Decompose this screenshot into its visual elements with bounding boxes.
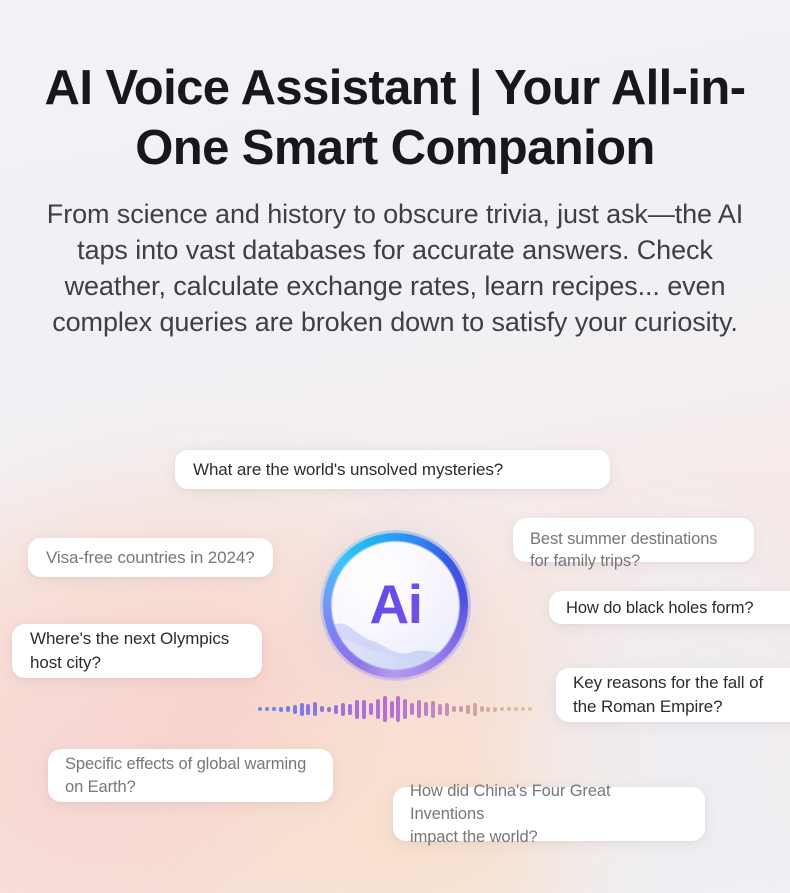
header: AI Voice Assistant | Your All-in-One Sma… <box>0 58 790 340</box>
waveform-bar <box>362 700 366 719</box>
suggestion-bubble-summer-destinations[interactable]: Best summer destinations for family trip… <box>513 518 754 562</box>
suggestion-bubble-china-inventions[interactable]: How did China's Four Great Inventions im… <box>393 787 705 841</box>
waveform-bar <box>272 707 276 711</box>
ai-orb-icon[interactable]: Ai <box>323 533 468 678</box>
waveform-bar <box>480 706 484 712</box>
waveform-bar <box>521 707 525 711</box>
suggestion-bubble-black-holes[interactable]: How do black holes form? <box>549 591 790 624</box>
waveform-bar <box>417 700 421 718</box>
suggestion-bubble-visa[interactable]: Visa-free countries in 2024? <box>28 538 273 577</box>
waveform-bar <box>320 706 324 712</box>
waveform-bar <box>507 707 511 711</box>
audio-waveform-icon <box>258 694 532 724</box>
waveform-bar <box>265 707 269 711</box>
waveform-bar <box>306 704 310 715</box>
waveform-bar <box>493 707 497 712</box>
waveform-bar <box>486 707 490 712</box>
waveform-bar <box>355 700 359 719</box>
waveform-bar <box>431 701 435 718</box>
waveform-bar <box>327 707 331 712</box>
page-subtitle: From science and history to obscure triv… <box>26 196 764 340</box>
suggestion-bubble-roman-empire[interactable]: Key reasons for the fall of the Roman Em… <box>556 668 790 722</box>
waveform-bar <box>459 706 463 712</box>
waveform-bar <box>445 703 449 716</box>
waveform-bar <box>369 703 373 715</box>
waveform-bar <box>334 705 338 714</box>
waveform-bar <box>300 703 304 716</box>
waveform-bar <box>410 703 414 715</box>
waveform-bar <box>376 699 380 719</box>
orb-label: Ai <box>323 533 468 678</box>
suggestion-bubble-mysteries[interactable]: What are the world's unsolved mysteries? <box>175 450 610 489</box>
waveform-bar <box>514 707 518 711</box>
waveform-bar <box>313 702 317 716</box>
waveform-bar <box>258 707 262 711</box>
waveform-bar <box>341 703 345 716</box>
waveform-bar <box>466 705 470 714</box>
waveform-bar <box>452 706 456 712</box>
waveform-bar <box>424 702 428 716</box>
suggestion-bubble-global-warming[interactable]: Specific effects of global warming on Ea… <box>48 749 333 802</box>
waveform-bar <box>279 707 283 712</box>
waveform-bar <box>348 704 352 715</box>
suggestion-bubble-olympics[interactable]: Where's the next Olympics host city? <box>12 624 262 678</box>
waveform-bar <box>473 703 477 716</box>
waveform-bar <box>293 705 297 714</box>
page-title: AI Voice Assistant | Your All-in-One Sma… <box>26 58 764 178</box>
waveform-bar <box>286 706 290 712</box>
waveform-bar <box>528 707 532 711</box>
waveform-bar <box>390 701 394 718</box>
waveform-bar <box>403 699 407 719</box>
waveform-bar <box>383 696 387 722</box>
waveform-bar <box>396 696 400 722</box>
waveform-bar <box>500 707 504 711</box>
waveform-bar <box>438 704 442 715</box>
